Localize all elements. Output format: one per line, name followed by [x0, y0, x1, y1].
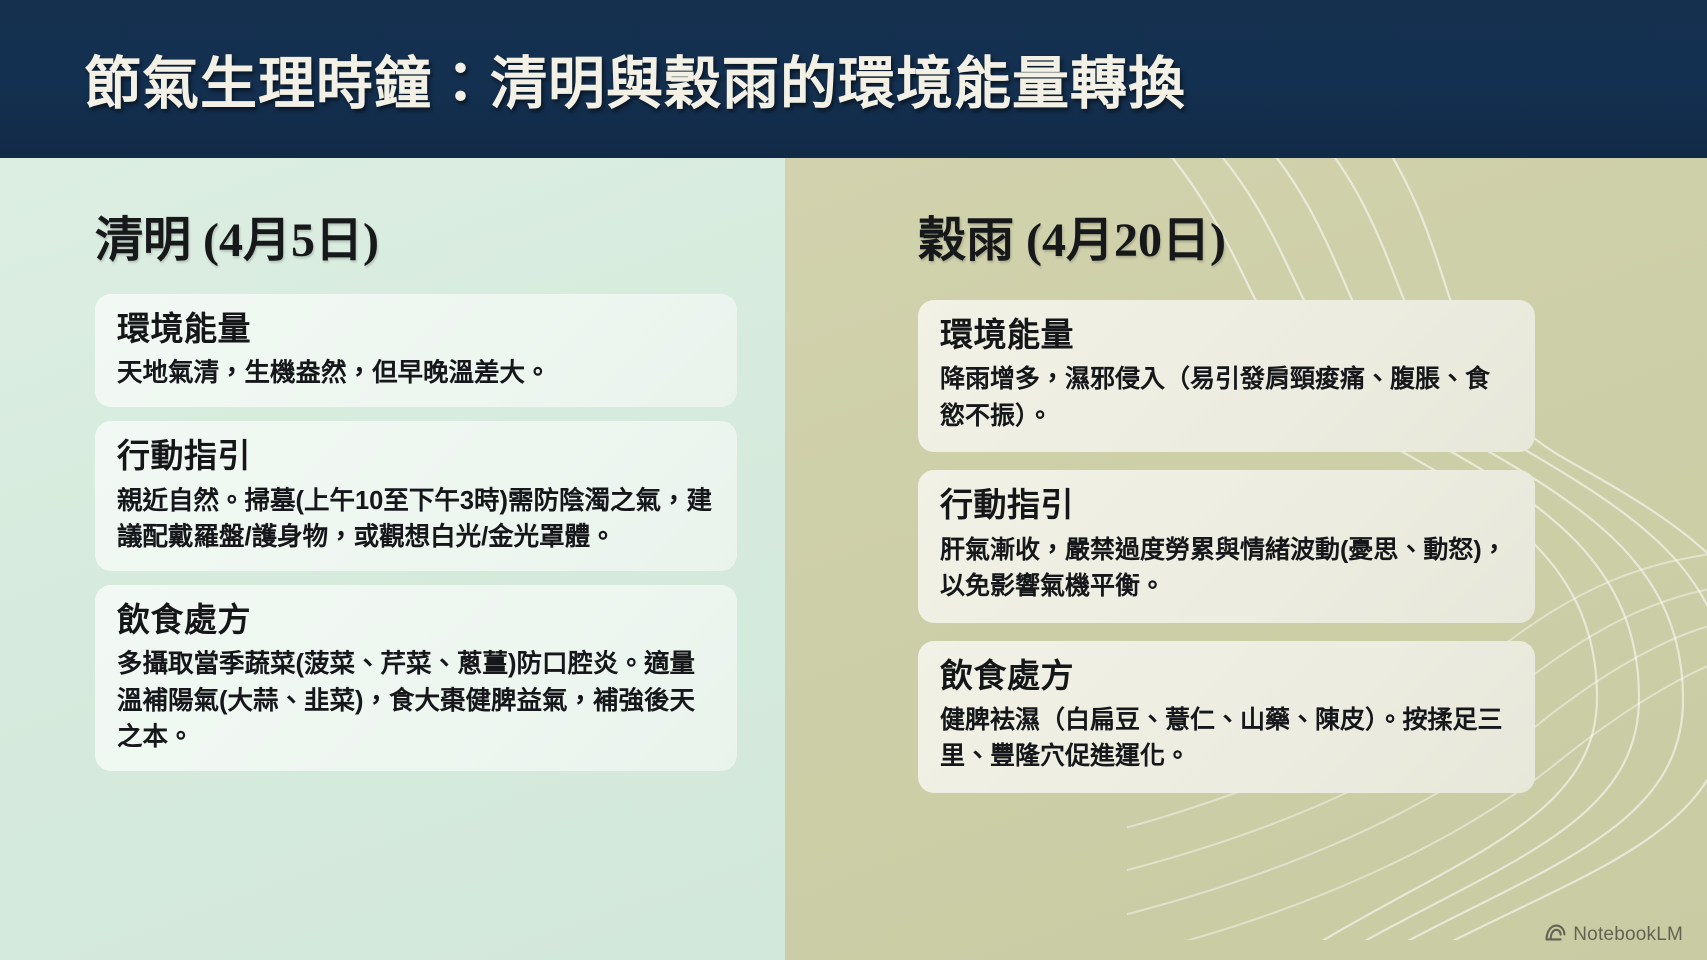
card-body: 多攝取當季蔬菜(菠菜、芹菜、蔥薑)防口腔炎。適量溫補陽氣(大蒜、韭菜)，食大棗健… — [117, 646, 715, 755]
card-guyu-diet: 飲食處方 健脾袪濕（白扁豆、薏仁、山藥、陳皮）。按揉足三里、豐隆穴促進運化。 — [918, 641, 1535, 793]
notebooklm-label: NotebookLM — [1573, 924, 1683, 946]
card-qingming-action: 行動指引 親近自然。掃墓(上午10至下午3時)需防陰濁之氣，建議配戴羅盤/護身物… — [95, 421, 737, 571]
card-body: 天地氣清，生機盎然，但早晚溫差大。 — [117, 355, 715, 391]
notebooklm-watermark: NotebookLM — [1545, 924, 1683, 946]
card-body: 健脾袪濕（白扁豆、薏仁、山藥、陳皮）。按揉足三里、豐隆穴促進運化。 — [940, 702, 1513, 775]
column-heading-qingming: 清明 (4月5日) — [95, 200, 735, 270]
content-panels: 清明 (4月5日) 環境能量 天地氣清，生機盎然，但早晚溫差大。 行動指引 親近… — [0, 158, 1707, 960]
card-qingming-diet: 飲食處方 多攝取當季蔬菜(菠菜、芹菜、蔥薑)防口腔炎。適量溫補陽氣(大蒜、韭菜)… — [95, 585, 737, 771]
card-guyu-action: 行動指引 肝氣漸收，嚴禁過度勞累與情緒波動(憂思、動怒)，以免影響氣機平衡。 — [918, 470, 1535, 622]
card-title: 行動指引 — [940, 486, 1513, 527]
page-title: 節氣生理時鐘：清明與穀雨的環境能量轉換 — [84, 38, 1186, 120]
card-title: 環境能量 — [117, 310, 715, 351]
column-qingming: 清明 (4月5日) 環境能量 天地氣清，生機盎然，但早晚溫差大。 行動指引 親近… — [0, 158, 785, 960]
card-title: 環境能量 — [940, 316, 1513, 357]
card-title: 行動指引 — [117, 437, 715, 478]
card-qingming-environment: 環境能量 天地氣清，生機盎然，但早晚溫差大。 — [95, 294, 737, 407]
card-body: 親近自然。掃墓(上午10至下午3時)需防陰濁之氣，建議配戴羅盤/護身物，或觀想白… — [117, 483, 715, 555]
card-title: 飲食處方 — [117, 601, 715, 642]
card-title: 飲食處方 — [940, 657, 1513, 698]
column-heading-guyu: 穀雨 (4月20日) — [918, 200, 1647, 270]
card-body: 降雨增多，濕邪侵入（易引發肩頸痠痛、腹脹、食慾不振）。 — [940, 361, 1513, 434]
card-body: 肝氣漸收，嚴禁過度勞累與情緒波動(憂思、動怒)，以免影響氣機平衡。 — [940, 532, 1513, 605]
slide-header: 節氣生理時鐘：清明與穀雨的環境能量轉換 — [0, 0, 1707, 158]
notebooklm-arc-icon — [1545, 924, 1566, 946]
card-guyu-environment: 環境能量 降雨增多，濕邪侵入（易引發肩頸痠痛、腹脹、食慾不振）。 — [918, 300, 1535, 452]
slide-root: 節氣生理時鐘：清明與穀雨的環境能量轉換 清明 (4月5日) 環境能量 天地氣清，… — [0, 0, 1707, 960]
column-guyu: 穀雨 (4月20日) 環境能量 降雨增多，濕邪侵入（易引發肩頸痠痛、腹脹、食慾不… — [785, 158, 1707, 960]
